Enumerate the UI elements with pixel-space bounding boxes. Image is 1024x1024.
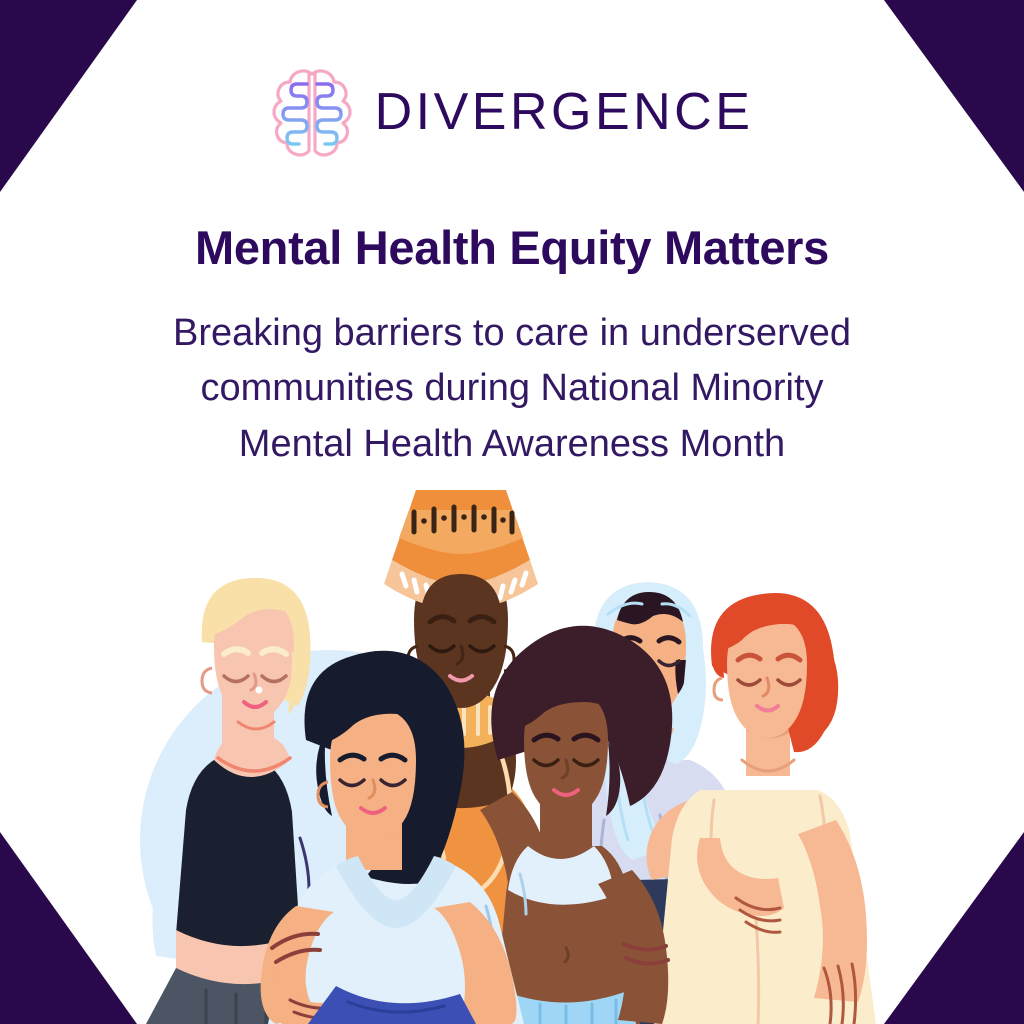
corner-wedge-top-left [0,0,137,192]
page-title: Mental Health Equity Matters [0,222,1024,275]
corner-wedge-bottom-right [884,832,1024,1024]
poster-canvas: DIVERGENCE Mental Health Equity Matters … [0,0,1024,1024]
subtitle-line-2: communities during National Minority [112,361,912,416]
subtitle-line-3: Mental Health Awareness Month [112,417,912,472]
corner-wedge-bottom-left [0,832,137,1024]
brain-icon [271,66,353,158]
brand-wordmark: DIVERGENCE [375,86,754,138]
page-subtitle: Breaking barriers to care in underserved… [112,306,912,472]
subtitle-line-1: Breaking barriers to care in underserved [112,306,912,361]
corner-wedge-top-right [884,0,1024,192]
brand-header: DIVERGENCE [0,60,1024,164]
